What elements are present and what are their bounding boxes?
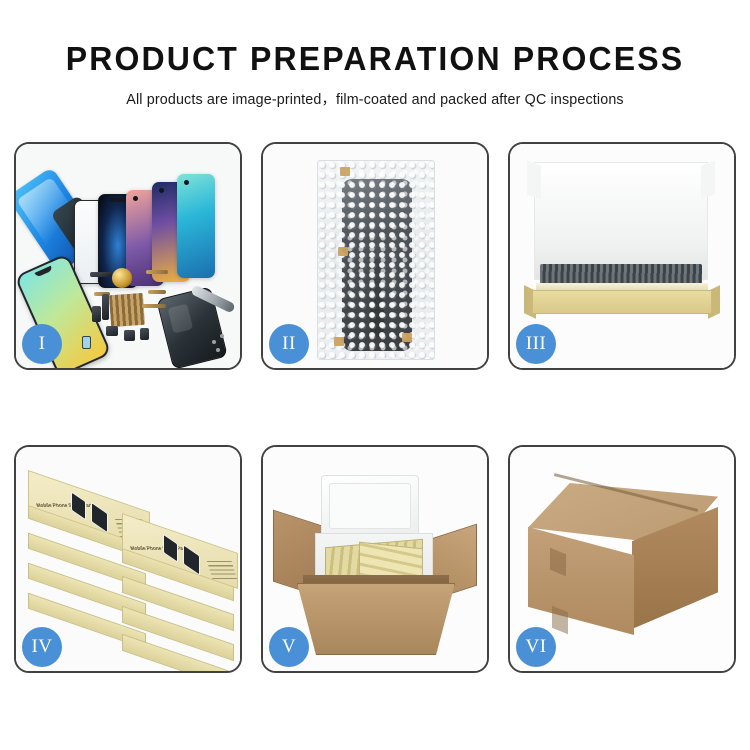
box-print-screen-3 xyxy=(163,534,178,563)
part-icon-1 xyxy=(90,272,112,277)
screw-icon-3 xyxy=(216,348,220,352)
process-step-panel-5: V xyxy=(261,445,489,673)
speaker-module-icon xyxy=(112,268,132,288)
part-icon-9 xyxy=(140,328,149,340)
tape-icon-1 xyxy=(340,167,350,176)
step-badge-3: III xyxy=(516,324,556,364)
header: PRODUCT PREPARATION PROCESS All products… xyxy=(0,0,750,109)
box-label-right: Mobile Phone Spare Parts xyxy=(130,546,190,552)
carton-body-icon xyxy=(297,583,455,655)
screw-icon-1 xyxy=(212,340,216,344)
process-step-panel-2: II xyxy=(261,142,489,370)
process-step-panel-3: III xyxy=(508,142,736,370)
bubble-wrap-bag-icon xyxy=(317,160,435,360)
open-box-lid-icon xyxy=(534,162,708,280)
bubble-texture-highlight xyxy=(318,161,434,359)
step-badge-2: II xyxy=(269,324,309,364)
part-icon-11 xyxy=(102,294,109,320)
page-title: PRODUCT PREPARATION PROCESS xyxy=(11,42,739,77)
phone-display-icon-4 xyxy=(177,174,215,278)
part-icon-2 xyxy=(146,270,168,274)
box-print-screen-2 xyxy=(91,502,108,534)
step-badge-5: V xyxy=(269,627,309,667)
part-icon-7 xyxy=(106,326,118,336)
screw-icon-2 xyxy=(220,334,224,338)
process-step-panel-1: I xyxy=(14,142,242,370)
tape-icon-4 xyxy=(402,333,412,342)
tape-icon-2 xyxy=(338,247,348,256)
part-icon-3 xyxy=(148,290,166,294)
box-print-text-block-2 xyxy=(207,561,237,579)
box-print-screen-4 xyxy=(183,544,200,576)
step-badge-1: I xyxy=(22,324,62,364)
box-print-screen-1 xyxy=(71,491,86,520)
step-badge-6: VI xyxy=(516,627,556,667)
foam-lid-icon xyxy=(321,475,419,537)
process-step-panel-6: VI xyxy=(508,445,736,673)
box-label-left: Mobile Phone Spare Parts xyxy=(36,503,96,509)
tape-icon-3 xyxy=(334,337,344,346)
logic-board-icon xyxy=(109,293,145,327)
part-icon-10 xyxy=(82,336,91,349)
product-preparation-infographic: PRODUCT PREPARATION PROCESS All products… xyxy=(0,0,750,750)
part-icon-6 xyxy=(92,306,101,322)
step-badge-4: IV xyxy=(22,627,62,667)
page-subtitle: All products are image-printed，film-coat… xyxy=(0,88,750,109)
part-icon-5 xyxy=(142,304,166,308)
process-step-grid: I II xyxy=(14,142,737,673)
part-icon-8 xyxy=(124,330,135,341)
process-step-panel-4: Mobile Phone Spare Parts Mobile Phone Sp… xyxy=(14,445,242,673)
yellow-inner-box-icon xyxy=(532,290,712,314)
